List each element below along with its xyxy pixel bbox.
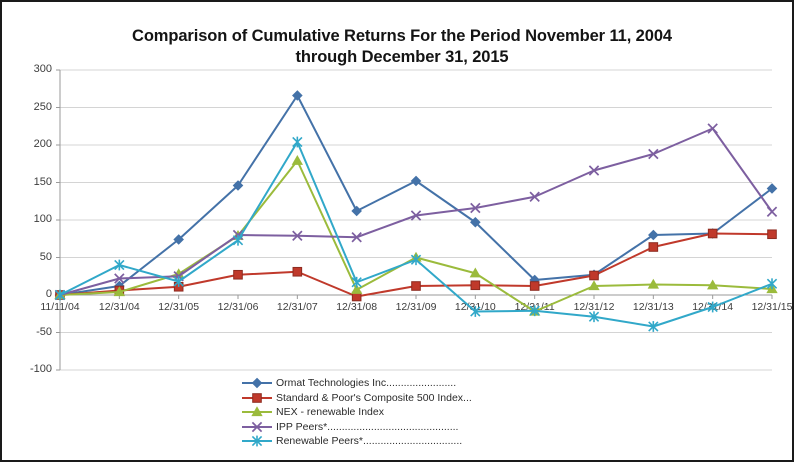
legend-item-label: IPP Peers*..............................… [274, 421, 458, 433]
data-point-marker [293, 267, 302, 276]
data-point-marker [590, 271, 599, 280]
data-point-marker [252, 379, 261, 388]
data-point-marker [293, 137, 302, 148]
legend-item-5[interactable]: Renewable Peers*........................… [242, 434, 572, 449]
data-point-marker [708, 302, 717, 313]
legend-item-2[interactable]: Standard & Poor's Composite 500 Index... [242, 391, 572, 406]
legend-marker-icon [242, 392, 272, 404]
data-point-marker [233, 235, 242, 246]
legend-marker-icon [242, 435, 272, 447]
series-4 [55, 124, 776, 300]
data-point-marker [293, 156, 303, 164]
chart-legend: Ormat Technologies Inc..................… [242, 376, 572, 449]
data-point-marker [412, 282, 421, 291]
legend-item-label: Standard & Poor's Composite 500 Index... [274, 392, 472, 404]
data-point-marker [252, 436, 261, 447]
data-point-marker [252, 422, 261, 431]
legend-item-label: Renewable Peers*........................… [274, 435, 462, 447]
legend-item-1[interactable]: Ormat Technologies Inc..................… [242, 376, 572, 391]
legend-marker-icon [242, 406, 272, 418]
legend-item-3[interactable]: NEX - renewable Index [242, 405, 572, 420]
chart-area: Comparison of Cumulative Returns For the… [2, 2, 792, 460]
data-point-marker [253, 393, 262, 402]
data-point-marker [708, 124, 717, 133]
data-point-marker [767, 207, 776, 216]
data-point-marker [767, 278, 776, 289]
data-point-marker [649, 243, 658, 252]
series-line [60, 129, 772, 296]
data-point-marker [708, 229, 717, 238]
chart-figure: Comparison of Cumulative Returns For the… [0, 0, 794, 462]
legend-marker-icon [242, 377, 272, 389]
legend-item-label: Ormat Technologies Inc..................… [274, 377, 456, 389]
legend-marker-icon [242, 421, 272, 433]
legend-item-label: NEX - renewable Index [274, 406, 384, 418]
data-point-marker [252, 407, 262, 415]
data-point-marker [471, 281, 480, 290]
data-point-marker [530, 282, 539, 291]
data-point-marker [234, 270, 243, 279]
data-point-marker [352, 206, 361, 215]
series-1 [55, 91, 776, 300]
data-point-marker [768, 230, 777, 239]
legend-item-4[interactable]: IPP Peers*..............................… [242, 420, 572, 435]
